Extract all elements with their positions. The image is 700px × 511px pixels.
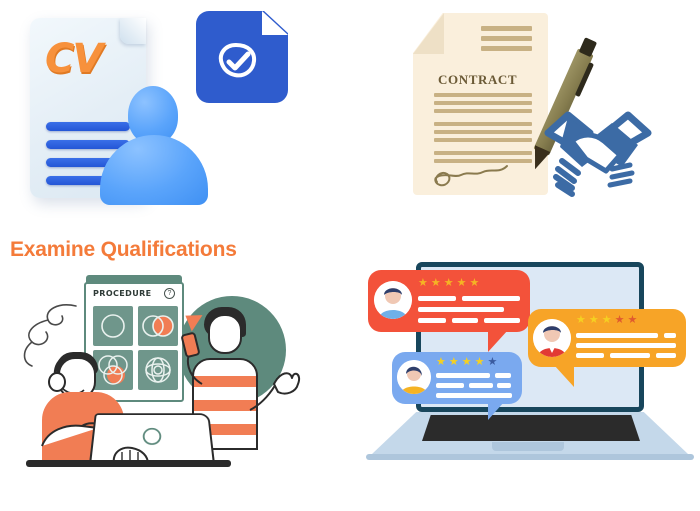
review-text-line bbox=[664, 333, 676, 338]
rating-stars: ★ ★ ★ ★ ★ bbox=[418, 278, 479, 289]
review-text-line bbox=[576, 333, 658, 338]
contract-header-line bbox=[481, 36, 532, 41]
star-icon: ★ bbox=[462, 357, 472, 368]
review-text-line bbox=[452, 318, 478, 323]
pen-cap-icon bbox=[579, 37, 597, 57]
review-text-line bbox=[576, 343, 676, 348]
laptop-foot bbox=[366, 454, 694, 460]
star-icon: ★ bbox=[444, 278, 454, 289]
review-text-line bbox=[576, 353, 604, 358]
star-icon: ★ bbox=[470, 278, 480, 289]
review-text-line bbox=[462, 296, 520, 301]
pen-clip-icon bbox=[575, 62, 594, 97]
avatar bbox=[397, 360, 431, 394]
contract-header-line bbox=[481, 46, 532, 51]
star-icon: ★ bbox=[576, 315, 586, 326]
review-text-line bbox=[656, 353, 676, 358]
contract-body-line bbox=[434, 151, 532, 155]
star-icon: ★ bbox=[628, 315, 638, 326]
review-text-line bbox=[469, 383, 493, 388]
review-text-line bbox=[610, 353, 650, 358]
star-icon: ★ bbox=[418, 278, 428, 289]
review-text-line bbox=[484, 318, 520, 323]
avatar bbox=[374, 281, 412, 319]
bubble-tail-icon bbox=[488, 330, 508, 352]
client-waving-hand-icon bbox=[246, 362, 304, 420]
bubble-tail-icon bbox=[488, 402, 504, 420]
review-text-line bbox=[436, 383, 464, 388]
review-text-line bbox=[495, 373, 511, 378]
procedure-board-label: PROCEDURE bbox=[93, 289, 152, 298]
star-icon: ★ bbox=[589, 315, 599, 326]
contract-body-line bbox=[434, 122, 532, 126]
review-text-line bbox=[497, 383, 511, 388]
review-text-line bbox=[436, 393, 512, 398]
contract-body-line bbox=[434, 93, 532, 97]
star-icon: ★ bbox=[615, 315, 625, 326]
star-icon: ★ bbox=[475, 357, 485, 368]
panel-get-signed-contract: CONTRACT bbox=[350, 0, 700, 255]
star-icon: ★ bbox=[457, 278, 467, 289]
procedure-board-header bbox=[86, 275, 182, 284]
review-bubble-orange[interactable]: ★ ★ ★ ★ ★ bbox=[528, 309, 686, 367]
star-icon: ★ bbox=[449, 357, 459, 368]
review-bubble-blue[interactable]: ★ ★ ★ ★ ★ bbox=[392, 352, 522, 404]
laptop-trackpad[interactable] bbox=[492, 442, 564, 451]
review-text-line bbox=[418, 307, 504, 312]
contract-header-line bbox=[481, 26, 532, 31]
review-text-line bbox=[418, 318, 446, 323]
infographic-root: CV Examine Qualifications CONTRACT bbox=[0, 0, 700, 511]
checkmark-icon bbox=[216, 42, 260, 82]
review-text-line bbox=[418, 296, 456, 301]
help-icon[interactable]: ? bbox=[164, 288, 175, 299]
contract-title: CONTRACT bbox=[438, 72, 517, 88]
handshake-icon bbox=[542, 103, 654, 203]
contract-body-line bbox=[434, 101, 532, 105]
star-icon: ★ bbox=[436, 357, 446, 368]
rating-stars: ★ ★ ★ ★ ★ bbox=[436, 357, 497, 368]
cv-label: CV bbox=[45, 36, 101, 82]
star-icon: ★ bbox=[488, 357, 498, 368]
laptop-keyboard[interactable] bbox=[422, 415, 640, 441]
star-icon: ★ bbox=[431, 278, 441, 289]
procedure-tile[interactable] bbox=[93, 306, 133, 346]
contract-body-line bbox=[434, 109, 532, 113]
review-text-line bbox=[436, 373, 490, 378]
client-arm-with-phone-icon bbox=[172, 326, 232, 390]
panel-client-testimonials: ★ ★ ★ ★ ★ bbox=[350, 252, 700, 511]
panel-examine-qualifications: CV Examine Qualifications bbox=[0, 0, 350, 265]
caption-examine-qualifications: Examine Qualifications bbox=[10, 238, 237, 262]
star-icon: ★ bbox=[602, 315, 612, 326]
signature-icon bbox=[429, 160, 525, 196]
avatar bbox=[533, 319, 571, 357]
panel-discuss-procedures: PROCEDURE ? bbox=[0, 262, 350, 511]
rating-stars: ★ ★ ★ ★ ★ bbox=[576, 315, 637, 326]
single-circle-icon bbox=[93, 306, 133, 346]
contract-body-line bbox=[434, 130, 532, 134]
cv-page-fold-icon bbox=[120, 18, 146, 44]
review-bubble-red[interactable]: ★ ★ ★ ★ ★ bbox=[368, 270, 530, 332]
desk-surface bbox=[26, 460, 231, 467]
contract-body-line bbox=[434, 138, 532, 142]
cv-text-line bbox=[46, 122, 130, 131]
bubble-tail-icon bbox=[554, 365, 574, 387]
